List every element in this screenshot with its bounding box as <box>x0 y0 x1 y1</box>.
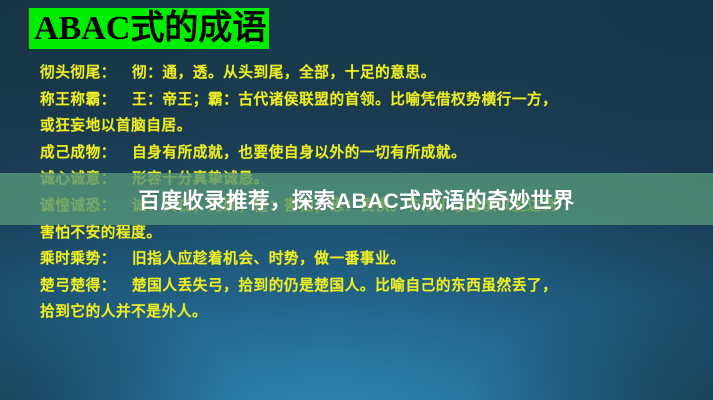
watermark-text: 百度收录推荐，探索ABAC式成语的奇妙世界 <box>0 173 713 225</box>
idiom-term: 成己成物： <box>40 145 116 161</box>
idiom-definition: 旧指人应趁着机会、时势，做一番事业。 <box>132 251 406 267</box>
idiom-entry: 彻头彻尾：彻：通，透。从头到尾，全部，十足的意思。 <box>0 60 713 87</box>
idiom-entry: 成己成物：自身有所成就，也要使自身以外的一切有所成就。 <box>0 140 713 167</box>
idiom-term: 称王称霸： <box>40 92 116 108</box>
idiom-definition-continuation: 或狂妄地以首脑自居。 <box>40 118 192 134</box>
slide-screenshot: ABAC式的成语 彻头彻尾：彻：通，透。从头到尾，全部，十足的意思。 称王称霸：… <box>0 0 713 400</box>
idiom-entry: 楚弓楚得：楚国人丢失弓，拾到的仍是楚国人。比喻自己的东西虽然丢了， <box>0 273 713 300</box>
idiom-definition-continuation-line: 或狂妄地以首脑自居。 <box>0 113 713 140</box>
idiom-term: 楚弓楚得： <box>40 278 116 294</box>
idiom-entry: 乘时乘势：旧指人应趁着机会、时势，做一番事业。 <box>0 246 713 273</box>
idiom-term: 彻头彻尾： <box>40 65 116 81</box>
idiom-definition: 自身有所成就，也要使自身以外的一切有所成就。 <box>132 145 466 161</box>
slide-title: ABAC式的成语 <box>29 8 269 49</box>
idiom-definition: 彻：通，透。从头到尾，全部，十足的意思。 <box>132 65 436 81</box>
idiom-definition: 王：帝王；霸：古代诸侯联盟的首领。比喻凭借权势横行一方， <box>132 92 557 108</box>
idiom-definition-continuation: 拾到它的人并不是外人。 <box>40 304 207 320</box>
idiom-definition: 楚国人丢失弓，拾到的仍是楚国人。比喻自己的东西虽然丢了， <box>132 278 557 294</box>
idiom-definition-continuation-line: 拾到它的人并不是外人。 <box>0 299 713 326</box>
idiom-entry: 称王称霸：王：帝王；霸：古代诸侯联盟的首领。比喻凭借权势横行一方， <box>0 87 713 114</box>
idiom-term: 乘时乘势： <box>40 251 116 267</box>
idiom-definition-continuation: 害怕不安的程度。 <box>40 225 162 241</box>
